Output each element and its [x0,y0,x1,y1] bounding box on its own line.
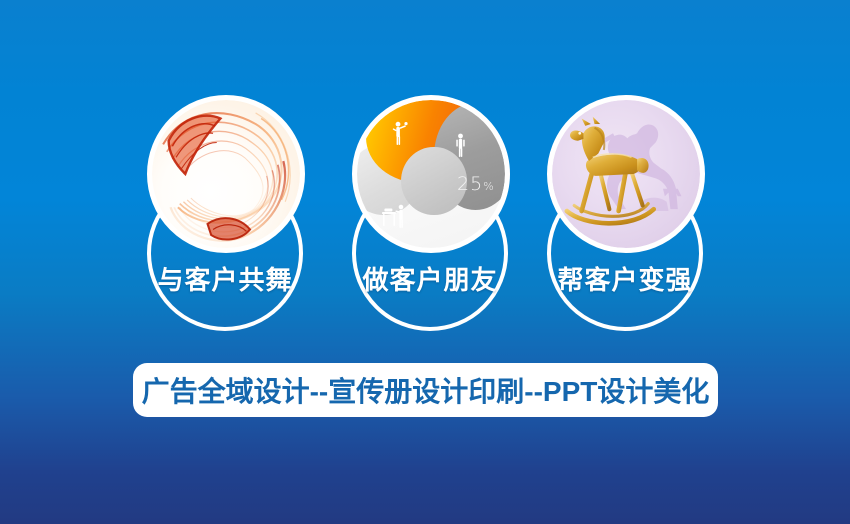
golden-rocking-horse-image [552,100,700,248]
image-bubble: 25% [352,95,510,253]
orange-smoke-swirl-image [152,100,300,248]
stat-percent: 25% [457,173,495,195]
feature-card-label: 与客户共舞 [125,260,325,297]
poster-canvas: 与客户共舞 [0,0,850,524]
person-standing-icon [452,133,469,158]
tagline-banner: 广告全域设计--宣传册设计印刷--PPT设计美化 [133,363,718,417]
stat-unit: % [483,180,494,193]
feature-card-dance[interactable]: 与客户共舞 [125,95,325,345]
person-at-desk-icon [381,204,411,229]
person-presenting-icon [390,121,410,147]
feature-card-stronger[interactable]: 帮客户变强 [525,95,725,345]
image-bubble [147,95,305,253]
feature-card-label: 做客户朋友 [330,260,530,297]
tagline-text: 广告全域设计--宣传册设计印刷--PPT设计美化 [142,370,710,410]
stat-value: 25 [457,173,483,195]
feature-card-friend[interactable]: 25% 做客户朋友 [330,95,530,345]
infographic-blobs-image: 25% [357,100,505,248]
image-bubble [547,95,705,253]
feature-card-label: 帮客户变强 [525,260,725,297]
